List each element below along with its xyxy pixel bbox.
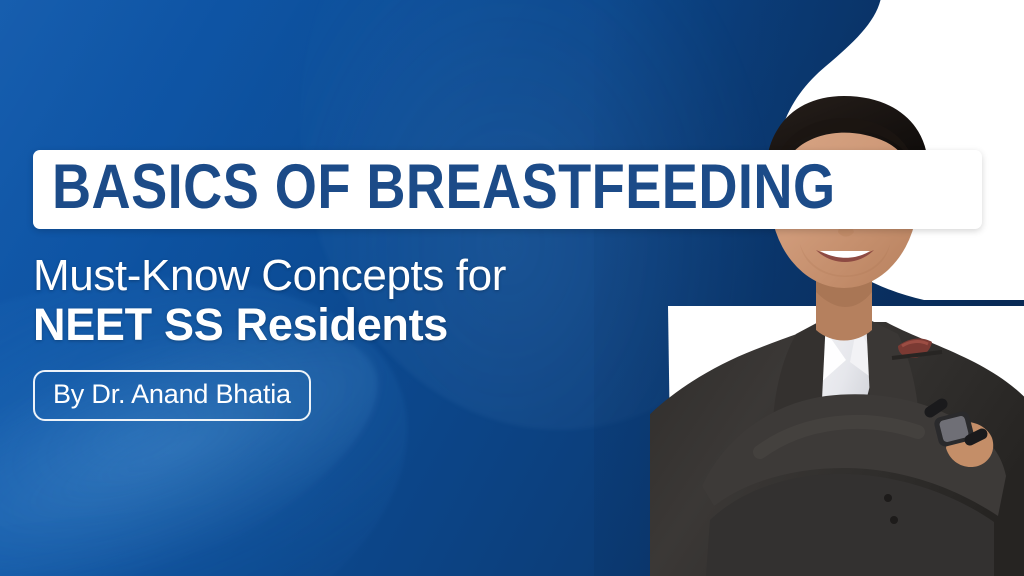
subtitle-line-2: NEET SS Residents [33,300,713,350]
subtitle-line-1: Must-Know Concepts for [33,251,713,300]
title-slide: BASICS OF BREASTFEEDING Must-Know Concep… [0,0,1024,576]
presenter-badge: By Dr. Anand Bhatia [33,370,311,421]
page-title: BASICS OF BREASTFEEDING [52,157,836,219]
copy-block: BASICS OF BREASTFEEDING Must-Know Concep… [33,150,713,421]
presenter-name-label: By Dr. Anand Bhatia [53,379,291,409]
title-banner: BASICS OF BREASTFEEDING [33,150,982,229]
subtitle: Must-Know Concepts for NEET SS Residents [33,251,713,351]
